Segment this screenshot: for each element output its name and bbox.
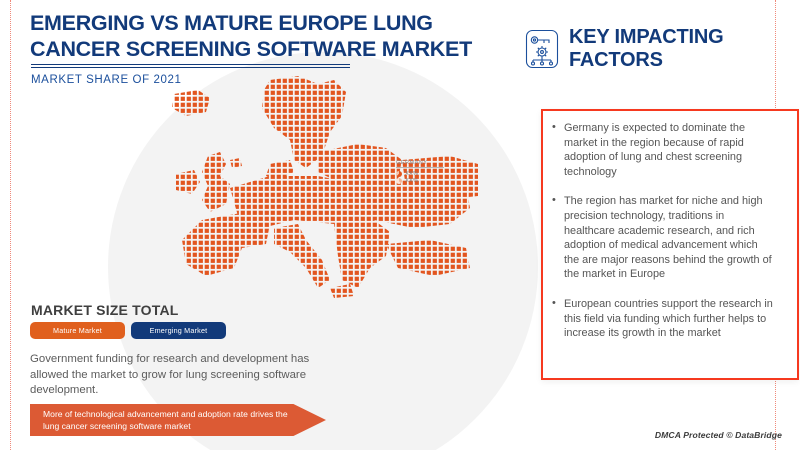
key-network-icon [525, 29, 559, 69]
pie-chart-icon [396, 171, 402, 177]
key-factors-title-line2: FACTORS [569, 49, 663, 71]
market-size-title: MARKET SIZE TOTAL [31, 302, 179, 318]
list-item: Germany is expected to dominate the mark… [552, 121, 774, 179]
highlight-banner: More of technological advancement and ad… [30, 404, 326, 436]
title-divider [31, 64, 350, 68]
legend-mature-market[interactable]: Mature Market [30, 322, 125, 339]
footer-copyright: DMCA Protected © DataBridge [655, 430, 782, 440]
callout-row-mature: XX% [396, 171, 444, 177]
europe-dot-map [150, 72, 480, 302]
left-panel: EMERGING VS MATURE EUROPE LUNG CANCER SC… [0, 0, 500, 450]
callout-value-mature: XX% [405, 171, 418, 177]
europe-map-svg [150, 72, 480, 302]
pie-chart-icon-light [396, 178, 402, 184]
list-item: The region has market for niche and high… [552, 194, 774, 282]
market-size-paragraph: Government funding for research and deve… [30, 352, 340, 399]
page-title: EMERGING VS MATURE EUROPE LUNG CANCER SC… [30, 10, 480, 62]
callout-country-label: GERMANY [396, 160, 444, 167]
market-legend: Mature Market Emerging Market [30, 322, 226, 339]
key-factors-title-line1: KEY IMPACTING [569, 26, 723, 48]
legend-emerging-market[interactable]: Emerging Market [131, 322, 226, 339]
germany-callout: GERMANY XX% XX% [396, 160, 444, 184]
callout-row-emerging: XX% [396, 178, 444, 184]
key-factors-title: KEY IMPACTING FACTORS [569, 26, 723, 72]
list-item: European countries support the research … [552, 297, 774, 341]
key-factors-list: Germany is expected to dominate the mark… [552, 121, 774, 356]
callout-divider [396, 167, 444, 168]
right-panel: KEY IMPACTING FACTORS Germany is expecte… [500, 0, 800, 450]
key-factors-header: KEY IMPACTING FACTORS [525, 26, 723, 72]
callout-value-emerging: XX% [405, 178, 418, 184]
